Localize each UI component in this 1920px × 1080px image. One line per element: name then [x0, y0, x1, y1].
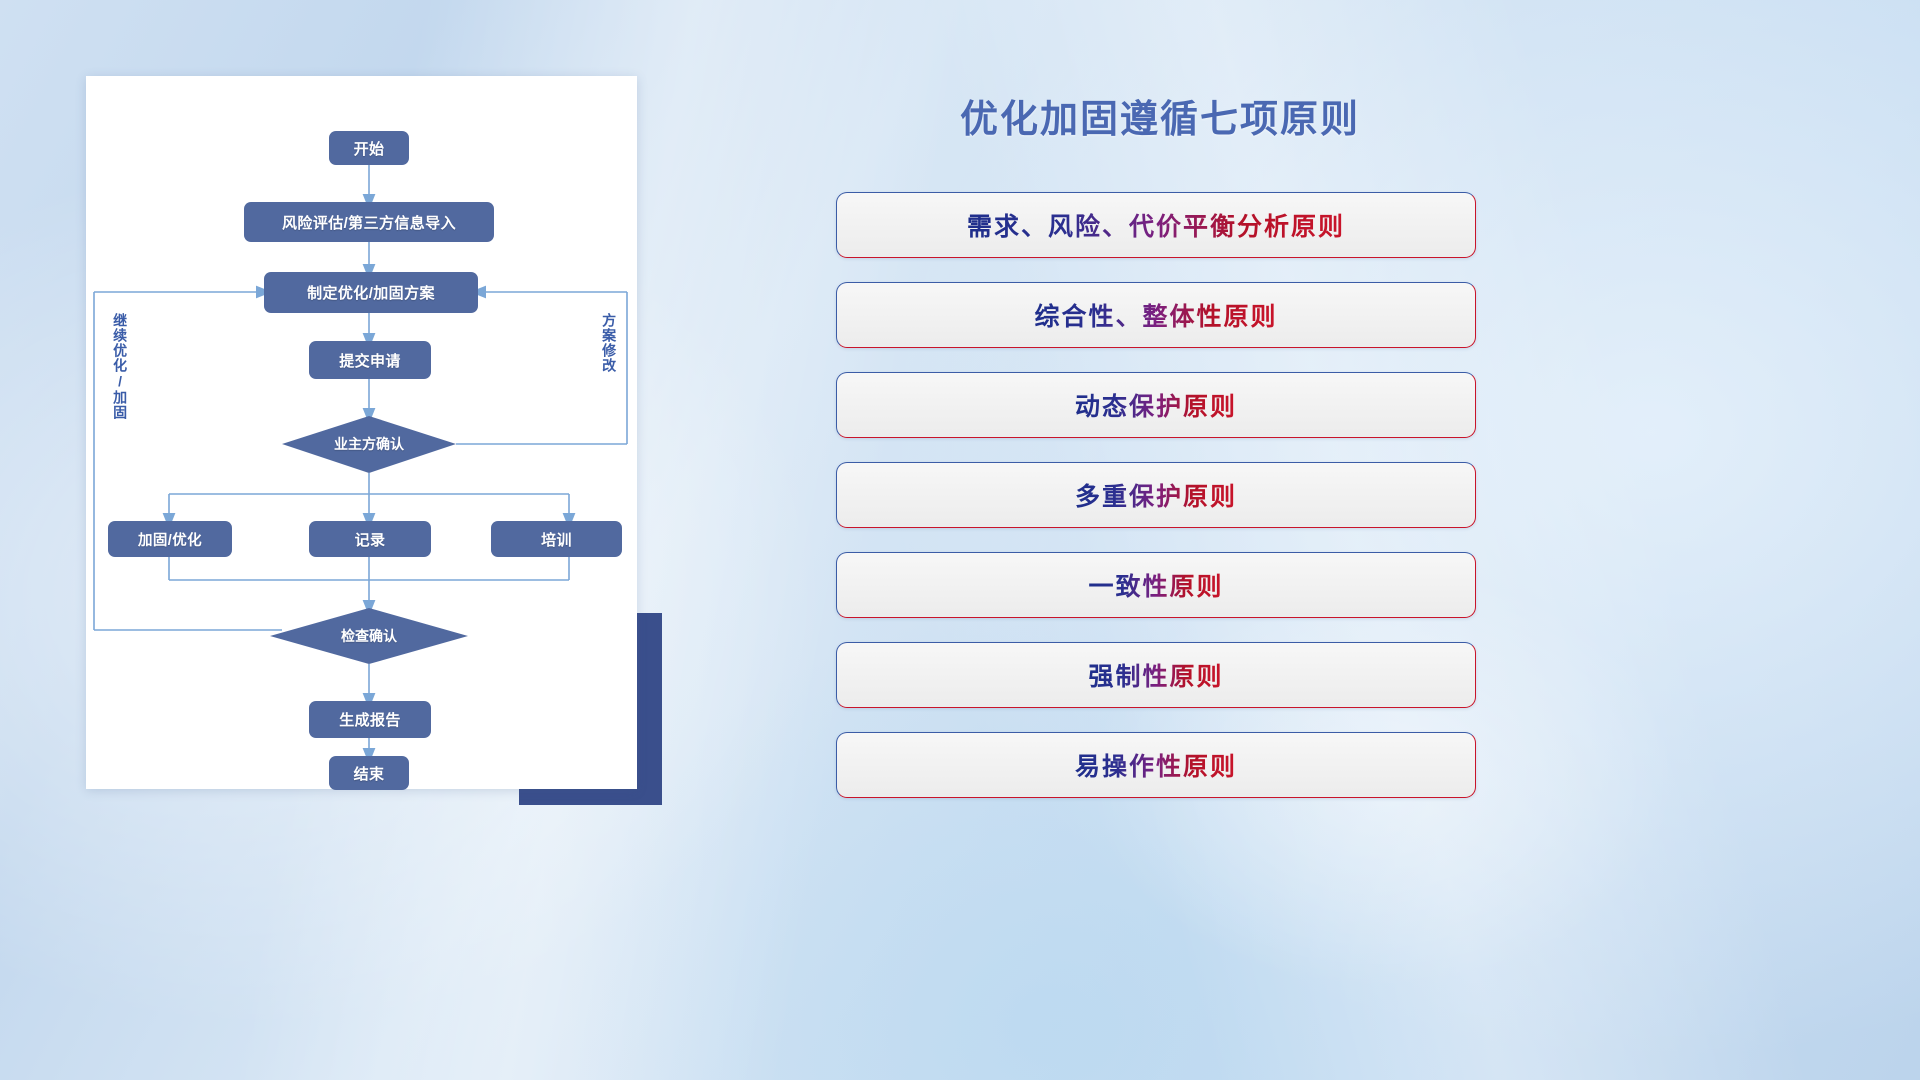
principle-item-2[interactable]: 综合性、整体性原则 — [836, 282, 1476, 348]
node-generate-report[interactable]: 生成报告 — [309, 701, 431, 738]
flowchart: 开始 风险评估/第三方信息导入 制定优化/加固方案 提交申请 业主方确认 加固/… — [86, 76, 637, 789]
node-training[interactable]: 培训 — [491, 521, 622, 557]
principle-item-7[interactable]: 易操作性原则 — [836, 732, 1476, 798]
slide-canvas: 开始 风险评估/第三方信息导入 制定优化/加固方案 提交申请 业主方确认 加固/… — [0, 0, 1920, 1080]
node-owner-confirm-label[interactable]: 业主方确认 — [282, 428, 456, 460]
principle-label: 综合性、整体性原则 — [1034, 297, 1277, 333]
edge-label-plan-revision: 方案修改 — [601, 313, 616, 403]
node-check-confirm-label[interactable]: 检查确认 — [270, 620, 468, 652]
node-record[interactable]: 记录 — [309, 521, 431, 557]
flowchart-card: 开始 风险评估/第三方信息导入 制定优化/加固方案 提交申请 业主方确认 加固/… — [86, 76, 637, 789]
node-risk-assessment[interactable]: 风险评估/第三方信息导入 — [244, 202, 494, 242]
principle-label: 多重保护原则 — [1075, 477, 1237, 513]
principle-label: 强制性原则 — [1088, 657, 1223, 693]
principles-heading: 优化加固遵循七项原则 — [830, 88, 1490, 143]
principle-label: 一致性原则 — [1088, 567, 1223, 603]
principle-item-6[interactable]: 强制性原则 — [836, 642, 1476, 708]
node-reinforce-optimize[interactable]: 加固/优化 — [108, 521, 232, 557]
node-submit-application[interactable]: 提交申请 — [309, 341, 431, 379]
principle-item-3[interactable]: 动态保护原则 — [836, 372, 1476, 438]
principle-item-5[interactable]: 一致性原则 — [836, 552, 1476, 618]
node-start[interactable]: 开始 — [329, 131, 409, 165]
principles-list: 需求、风险、代价平衡分析原则 综合性、整体性原则 动态保护原则 多重保护原则 一… — [836, 192, 1476, 822]
node-make-plan[interactable]: 制定优化/加固方案 — [264, 272, 478, 313]
principle-label: 动态保护原则 — [1075, 387, 1237, 423]
principle-item-1[interactable]: 需求、风险、代价平衡分析原则 — [836, 192, 1476, 258]
principle-label: 易操作性原则 — [1075, 747, 1237, 783]
node-end[interactable]: 结束 — [329, 756, 409, 790]
principle-item-4[interactable]: 多重保护原则 — [836, 462, 1476, 528]
edge-label-continue-optimize: 继续优化/加固 — [112, 313, 127, 453]
principle-label: 需求、风险、代价平衡分析原则 — [967, 207, 1345, 243]
